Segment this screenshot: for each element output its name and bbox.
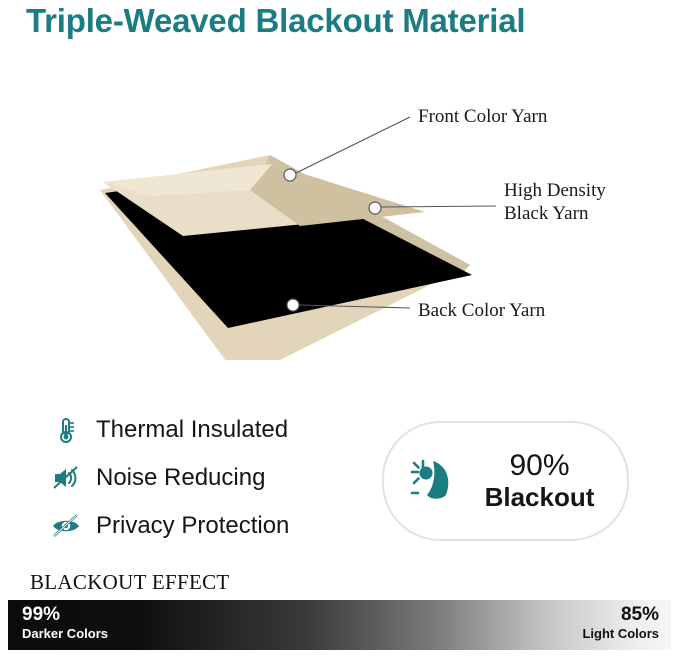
feature-item-thermal: Thermal Insulated [50,408,380,452]
blackout-badge: 90% Blackout [382,421,629,541]
eye-off-icon [50,510,82,542]
blackout-effect-caption: BLACKOUT EFFECT [30,570,230,595]
fabric-layers-illustration: Front Color Yarn High Density Black Yarn… [0,60,679,360]
thermometer-icon [50,414,82,446]
feature-item-noise: Noise Reducing [50,456,380,500]
sun-blocking-icon [406,453,462,509]
gradient-right-readout: 85% Light Colors [582,604,659,642]
feature-label-thermal: Thermal Insulated [96,416,288,444]
callout-label-front: Front Color Yarn [418,105,547,128]
blackout-percent: 90% [462,450,617,482]
speaker-mute-icon [50,462,82,494]
page-title: Triple-Weaved Blackout Material [26,2,656,40]
product-infographic: Triple-Weaved Blackout Material Front Co… [0,0,679,656]
callout-line-front [296,117,410,173]
blackout-badge-text: 90% Blackout [462,450,627,512]
callout-label-back: Back Color Yarn [418,299,545,322]
feature-list: Thermal Insulated Noise Reducing [50,408,380,552]
callout-label-middle: High Density Black Yarn [504,179,606,225]
callout-dot-front [284,169,296,181]
gradient-left-percent: 99% [22,604,108,626]
callout-dot-back [287,299,299,311]
feature-label-privacy: Privacy Protection [96,512,289,540]
gradient-left-readout: 99% Darker Colors [22,604,108,642]
gradient-right-label: Light Colors [582,626,659,642]
blackout-word: Blackout [462,482,617,512]
callout-dot-middle [369,202,381,214]
feature-item-privacy: Privacy Protection [50,504,380,548]
gradient-right-percent: 85% [582,604,659,626]
gradient-left-label: Darker Colors [22,626,108,642]
feature-label-noise: Noise Reducing [96,464,265,492]
